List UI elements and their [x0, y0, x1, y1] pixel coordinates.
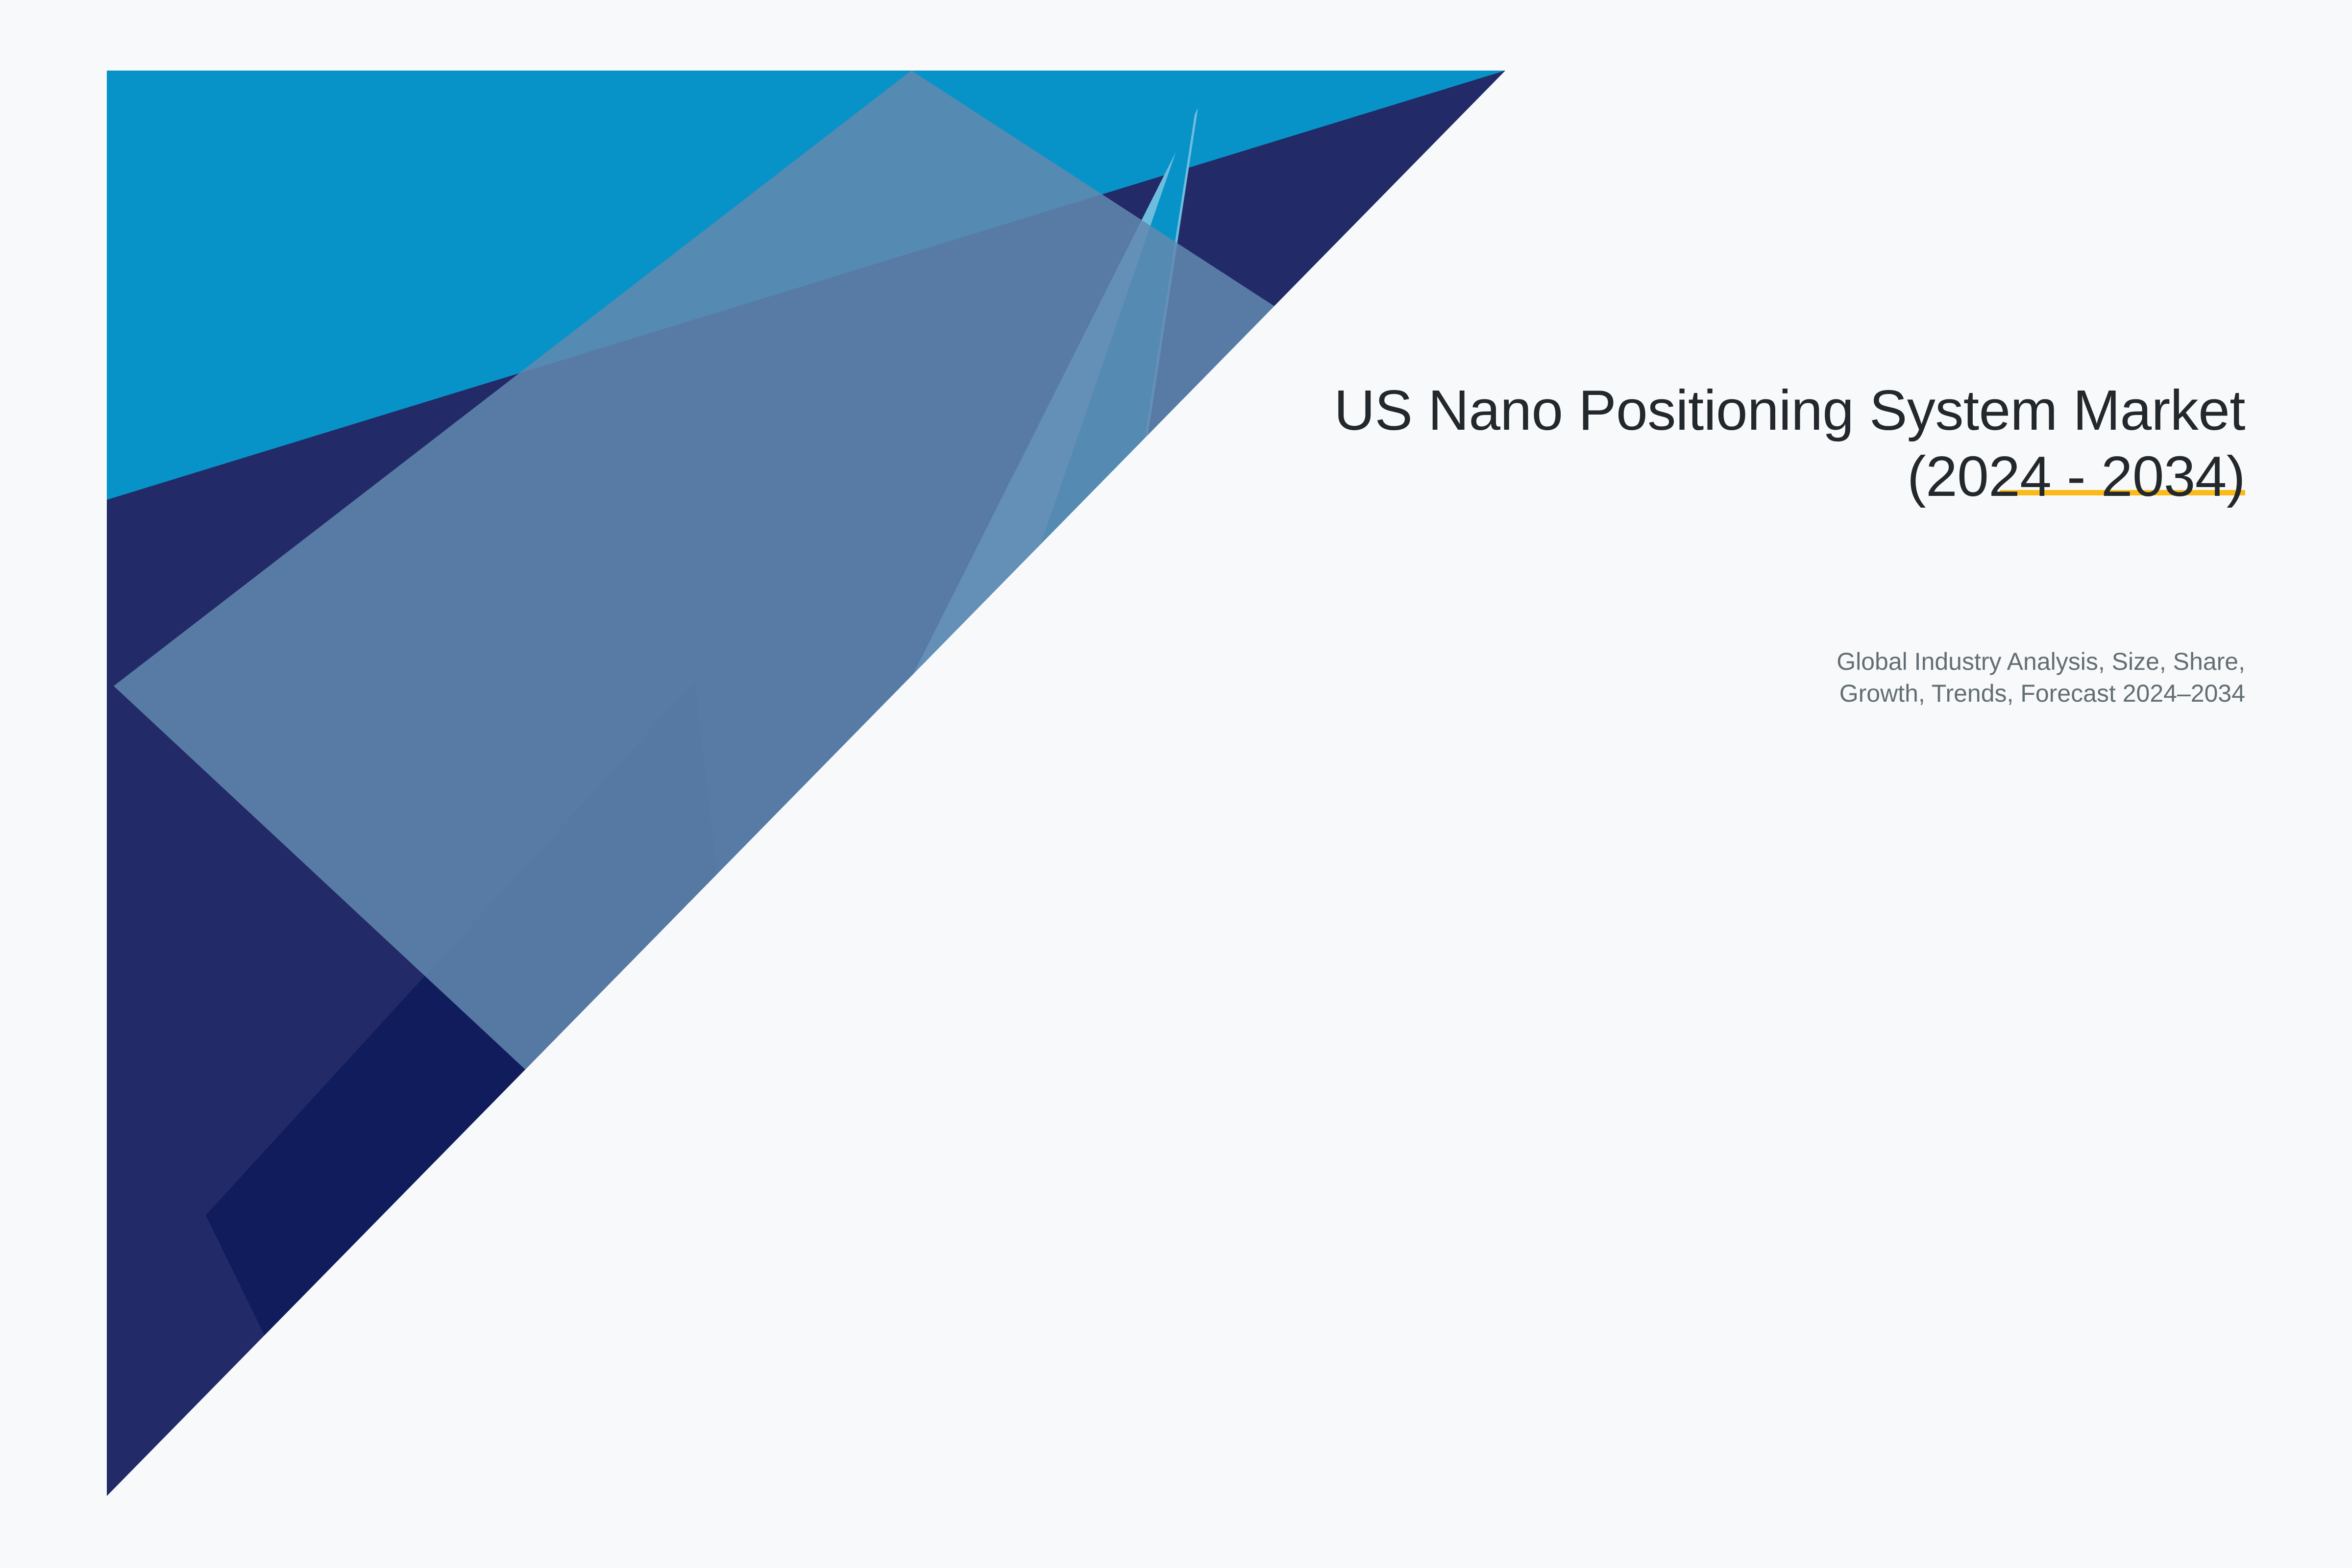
- page-subtitle-line-2: Growth, Trends, Forecast 2024–2034: [1839, 680, 2245, 707]
- page-title-line-2: (2024 - 2034): [1069, 443, 2245, 510]
- subtitle-block: Global Industry Analysis, Size, Share,Gr…: [1363, 646, 2245, 710]
- page-title: US Nano Positioning System Market(2024 -…: [1069, 377, 2245, 509]
- title-block: US Nano Positioning System Market(2024 -…: [1069, 377, 2245, 509]
- page-title-line-1: US Nano Positioning System Market: [1069, 377, 2245, 443]
- abstract-geometric-artwork: [0, 0, 2352, 1568]
- report-cover-page: US Nano Positioning System Market(2024 -…: [0, 0, 2352, 1568]
- page-subtitle-line-1: Global Industry Analysis, Size, Share,: [1837, 648, 2245, 675]
- page-subtitle: Global Industry Analysis, Size, Share,Gr…: [1363, 646, 2245, 710]
